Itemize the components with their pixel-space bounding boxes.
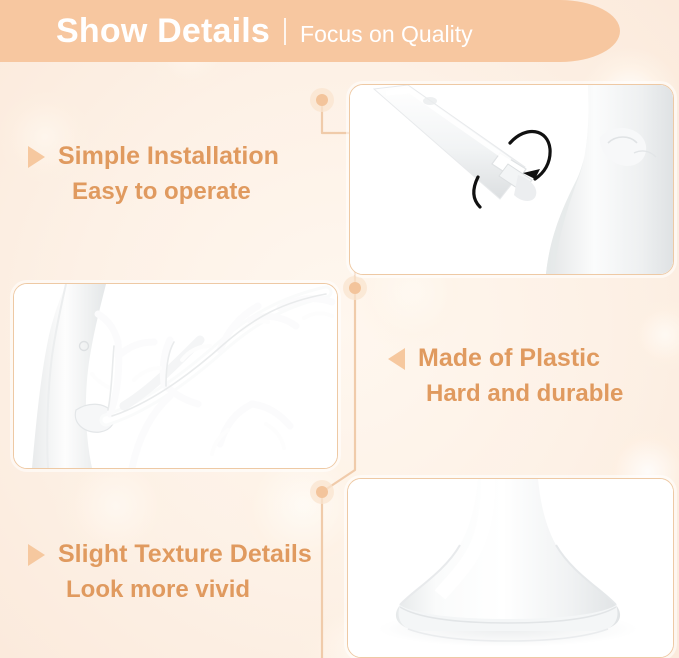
connector-dot	[343, 276, 367, 300]
feature-subtitle: Look more vivid	[66, 573, 250, 607]
connector-dot	[310, 480, 334, 504]
connector-dot	[310, 88, 334, 112]
photo-textured-base	[347, 478, 674, 658]
bokeh-light	[630, 300, 679, 370]
photo-assembly-joint	[349, 84, 674, 275]
page-title: Show Details	[56, 14, 270, 48]
photo-plastic-branches	[13, 283, 338, 469]
triangle-right-icon	[28, 146, 45, 168]
triangle-left-icon	[388, 348, 405, 370]
infographic-page: Show Details Focus on Quality	[0, 0, 679, 658]
feature-subtitle: Hard and durable	[426, 377, 623, 411]
triangle-right-icon	[28, 544, 45, 566]
feature-title: Slight Texture Details	[58, 537, 312, 573]
feature-title: Made of Plastic	[418, 341, 600, 377]
feature-simple-installation: Simple Installation Easy to operate	[28, 139, 279, 209]
page-subtitle: Focus on Quality	[300, 23, 473, 46]
header-banner-content: Show Details Focus on Quality	[0, 14, 473, 48]
feature-subtitle: Easy to operate	[72, 175, 251, 209]
feature-slight-texture-details: Slight Texture Details Look more vivid	[28, 537, 312, 607]
header-banner: Show Details Focus on Quality	[0, 0, 620, 62]
title-separator	[284, 18, 286, 45]
feature-made-of-plastic: Made of Plastic Hard and durable	[388, 341, 623, 411]
feature-title: Simple Installation	[58, 139, 279, 175]
